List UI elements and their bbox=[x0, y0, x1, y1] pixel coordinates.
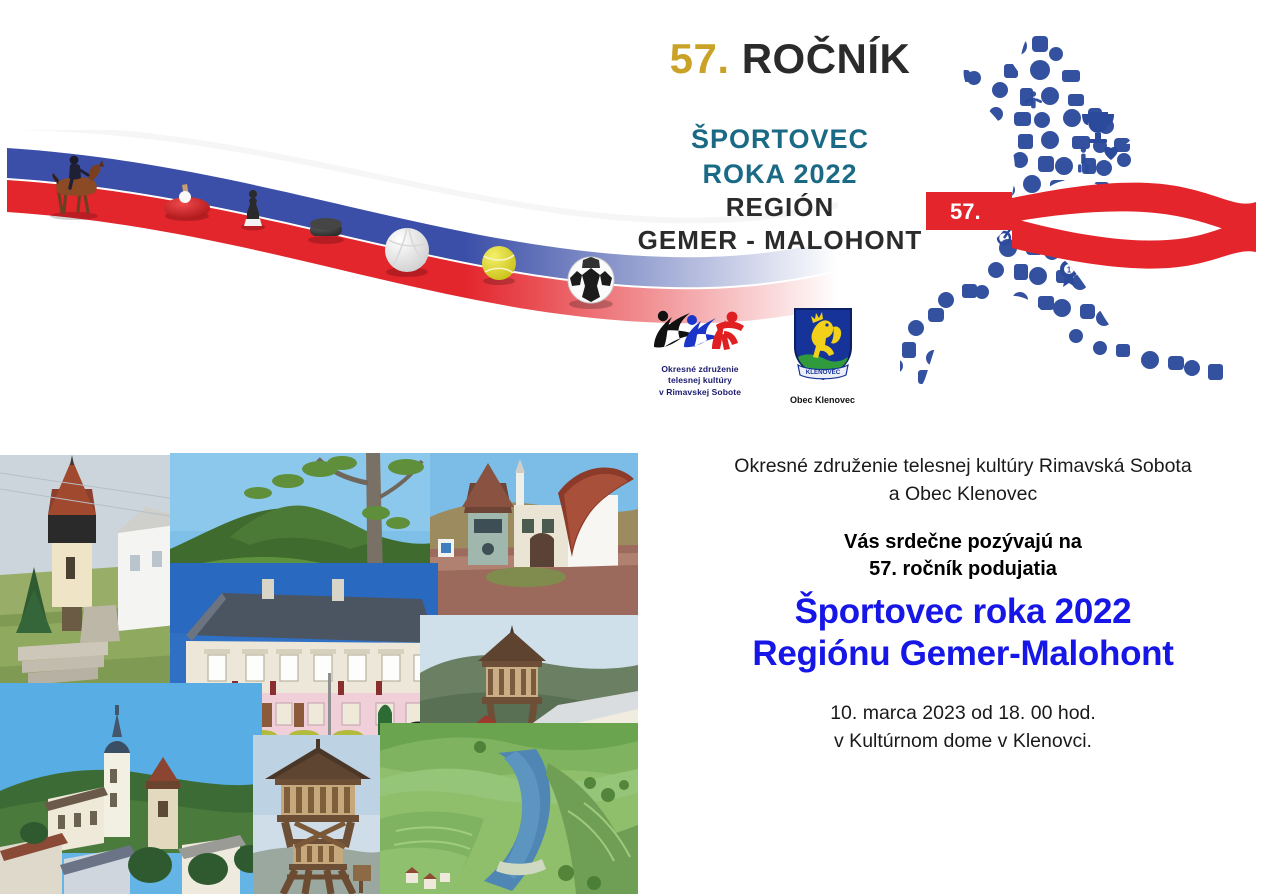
photo-village-church-panorama bbox=[0, 683, 262, 894]
odtk-caption: Okresné združenie telesnej kultúry v Rim… bbox=[645, 364, 755, 398]
tennis-ball-icon bbox=[482, 246, 516, 285]
organiser-line-2: a Obec Klenovec bbox=[648, 480, 1278, 508]
subtitle-line-3: REGIÓN bbox=[600, 191, 960, 224]
invitation-line-2: 57. ročník podujatia bbox=[648, 556, 1278, 583]
invitation-text-block: Okresné združenie telesnej kultúry Rimav… bbox=[648, 452, 1278, 755]
event-subtitle: ŠPORTOVEC ROKA 2022 REGIÓN GEMER - MALOH… bbox=[600, 122, 960, 258]
event-title-line-1: Športovec roka 2022 bbox=[648, 591, 1278, 633]
subtitle-line-2: ROKA 2022 bbox=[600, 157, 960, 192]
photo-klenovec-reservoir-valley bbox=[380, 723, 638, 894]
subtitle-line-4: GEMER - MALOHONT bbox=[600, 224, 960, 257]
photo-collage bbox=[0, 445, 638, 894]
event-title-line-2: Regiónu Gemer-Malohont bbox=[648, 633, 1278, 675]
edition-number: 57. bbox=[670, 35, 730, 82]
klenovec-caption: Obec Klenovec bbox=[775, 395, 870, 405]
klenovec-banner-text: KLENOVEC bbox=[805, 369, 840, 376]
shield-lion-icon: KLENOVEC bbox=[789, 305, 857, 387]
svg-text:1: 1 bbox=[1067, 266, 1072, 275]
volleyball-icon bbox=[385, 228, 429, 277]
klenovec-coat-of-arms: KLENOVEC Obec Klenovec bbox=[775, 305, 870, 405]
photo-cultural-house-klenovec bbox=[430, 453, 638, 615]
svg-text:8: 8 bbox=[1122, 277, 1127, 286]
photo-wooden-observation-tower bbox=[253, 735, 383, 894]
page-title: 57. ROČNÍK bbox=[620, 38, 960, 80]
subtitle-line-1: ŠPORTOVEC bbox=[600, 122, 960, 157]
three-runners-icon bbox=[646, 305, 754, 357]
event-venue: v Kultúrnom dome v Klenovci. bbox=[648, 727, 1278, 755]
soccer-ball-icon bbox=[568, 257, 614, 309]
organiser-logos: Okresné združenie telesnej kultúry v Rim… bbox=[645, 305, 875, 415]
edition-word: ROČNÍK bbox=[742, 35, 911, 82]
organiser-line-1: Okresné združenie telesnej kultúry Rimav… bbox=[648, 452, 1278, 480]
hockey-puck-icon bbox=[308, 218, 344, 244]
odtk-caption-line-3: v Rimavskej Sobote bbox=[645, 387, 755, 398]
odtk-caption-line-1: Okresné združenie bbox=[645, 364, 755, 375]
poster-root: 8 1 bbox=[0, 0, 1280, 894]
invitation-line-1: Vás srdečne pozývajú na bbox=[648, 529, 1278, 556]
photo-church-bell-tower-klenovec bbox=[0, 455, 176, 701]
odtk-logo: Okresné združenie telesnej kultúry v Rim… bbox=[645, 305, 755, 398]
odtk-caption-line-2: telesnej kultúry bbox=[645, 375, 755, 386]
event-datetime: 10. marca 2023 od 18. 00 hod. bbox=[648, 699, 1278, 727]
